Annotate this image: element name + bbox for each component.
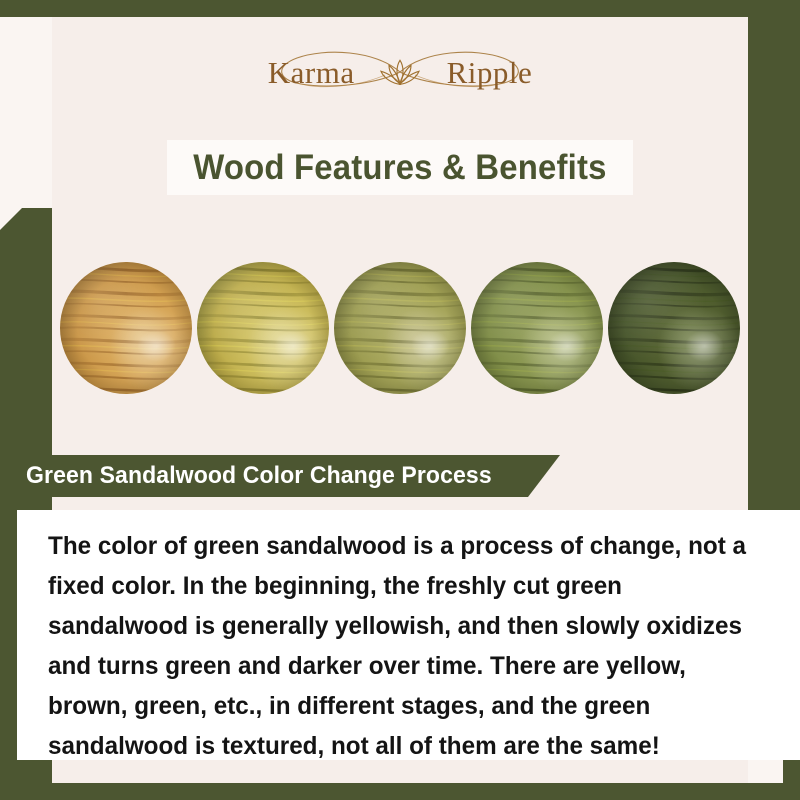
section-banner-label: Green Sandalwood Color Change Process <box>26 462 492 490</box>
wood-bead-4 <box>471 262 603 394</box>
wood-bead-2 <box>197 262 329 394</box>
frame-bottom-border <box>0 783 800 800</box>
poster-canvas: Karma Ripple Wood Features & Benefits Gr… <box>0 0 800 800</box>
body-text-card: The color of green sandalwood is a proce… <box>17 510 800 760</box>
wood-bead-1 <box>60 262 192 394</box>
frame-right-band <box>748 0 800 592</box>
section-banner: Green Sandalwood Color Change Process <box>0 455 560 497</box>
body-paragraph: The color of green sandalwood is a proce… <box>48 526 748 766</box>
wood-bead-5 <box>608 262 740 394</box>
page-title: Wood Features & Benefits <box>193 148 606 188</box>
page-title-band: Wood Features & Benefits <box>167 140 633 195</box>
bead-color-stages <box>52 250 748 405</box>
wood-bead-3 <box>334 262 466 394</box>
frame-top-border <box>0 0 800 17</box>
